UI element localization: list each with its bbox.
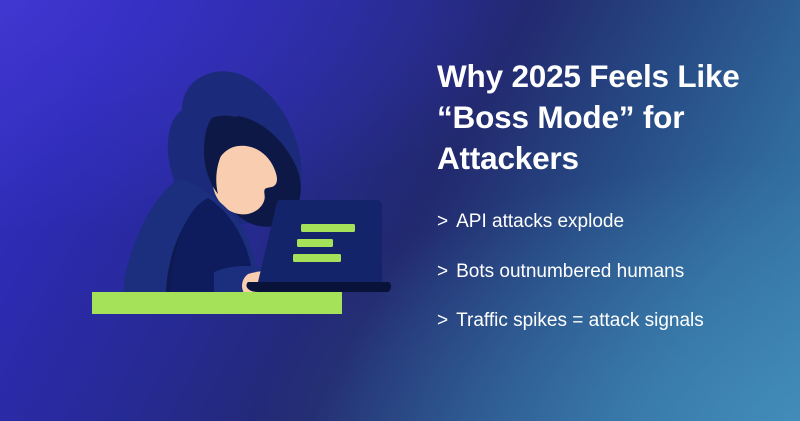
chevron-right-icon: > — [437, 211, 448, 234]
promo-banner: Why 2025 Feels Like “Boss Mode” for Atta… — [0, 0, 800, 421]
list-item: > API attacks explode — [437, 211, 777, 234]
chevron-right-icon: > — [437, 310, 448, 333]
hacker-illustration — [62, 58, 392, 323]
list-item: > Bots outnumbered humans — [437, 261, 777, 284]
screen-line-3 — [293, 254, 341, 262]
page-title: Why 2025 Feels Like “Boss Mode” for Atta… — [437, 56, 777, 179]
desk-bar — [92, 292, 342, 314]
screen-line-1 — [301, 224, 355, 232]
list-item-label: Bots outnumbered humans — [456, 261, 684, 284]
list-item-label: API attacks explode — [456, 211, 624, 234]
list-item-label: Traffic spikes = attack signals — [456, 310, 704, 333]
list-item: > Traffic spikes = attack signals — [437, 310, 777, 333]
feature-bullet-list: > API attacks explode > Bots outnumbered… — [437, 211, 777, 333]
chevron-right-icon: > — [437, 261, 448, 284]
screen-line-2 — [297, 239, 333, 247]
copy-column: Why 2025 Feels Like “Boss Mode” for Atta… — [437, 56, 777, 333]
laptop-base — [246, 282, 391, 292]
